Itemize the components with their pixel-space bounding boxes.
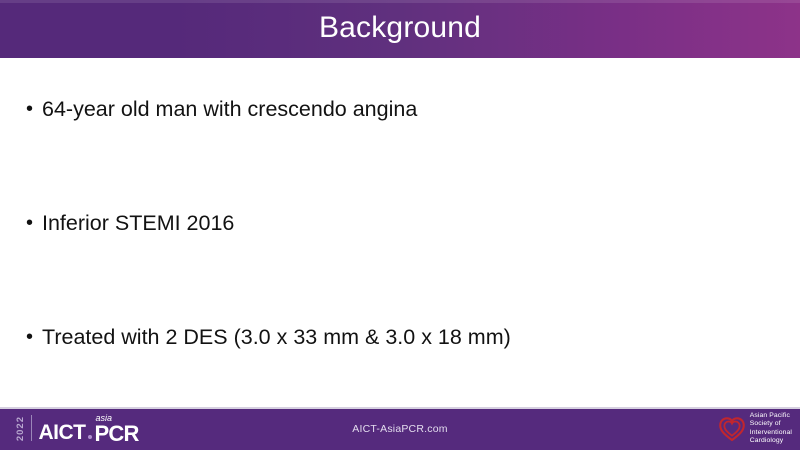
society-line-4: Cardiology <box>750 437 792 445</box>
footer-website-link[interactable]: AICT-AsiaPCR.com <box>352 423 447 435</box>
society-line-3: Interventional <box>750 429 792 437</box>
bullet-point-icon: • <box>26 208 42 238</box>
bullet-point-icon: • <box>26 94 42 124</box>
aict-asiapcr-logo: 2022 AICT asia PCR <box>16 414 139 444</box>
bullet-text: Inferior STEMI 2016 <box>42 208 234 238</box>
page-title: Background <box>319 13 481 45</box>
heart-icon <box>719 416 745 442</box>
bullet-text: Treated with 2 DES (3.0 x 33 mm & 3.0 x … <box>42 322 511 352</box>
list-item: • 64-year old man with crescendo angina <box>0 94 800 208</box>
aict-lockup: AICT asia PCR <box>39 414 139 444</box>
slide-body: • 64-year old man with crescendo angina … <box>0 58 800 407</box>
asiapcr-wordmark: asia PCR <box>95 414 139 444</box>
aict-wordmark: AICT <box>39 422 86 443</box>
slide-title-bar: Background <box>0 0 800 58</box>
society-line-1: Asian Pacific <box>750 412 792 420</box>
bullet-text: 64-year old man with crescendo angina <box>42 94 417 124</box>
pcr-label: PCR <box>95 424 139 444</box>
apsic-society-logo: Asian Pacific Society of Interventional … <box>719 412 792 445</box>
bullet-list: • 64-year old man with crescendo angina … <box>0 58 800 436</box>
list-item: • Inferior STEMI 2016 <box>0 208 800 322</box>
bullet-point-icon: • <box>26 322 42 352</box>
logo-divider <box>31 415 32 441</box>
separator-dot-icon <box>88 435 92 439</box>
year-label: 2022 <box>16 416 26 441</box>
slide: Background • 64-year old man with cresce… <box>0 0 800 450</box>
society-name: Asian Pacific Society of Interventional … <box>750 412 792 445</box>
slide-footer: 2022 AICT asia PCR AICT-AsiaPCR.com Asia… <box>0 407 800 450</box>
society-line-2: Society of <box>750 420 792 428</box>
